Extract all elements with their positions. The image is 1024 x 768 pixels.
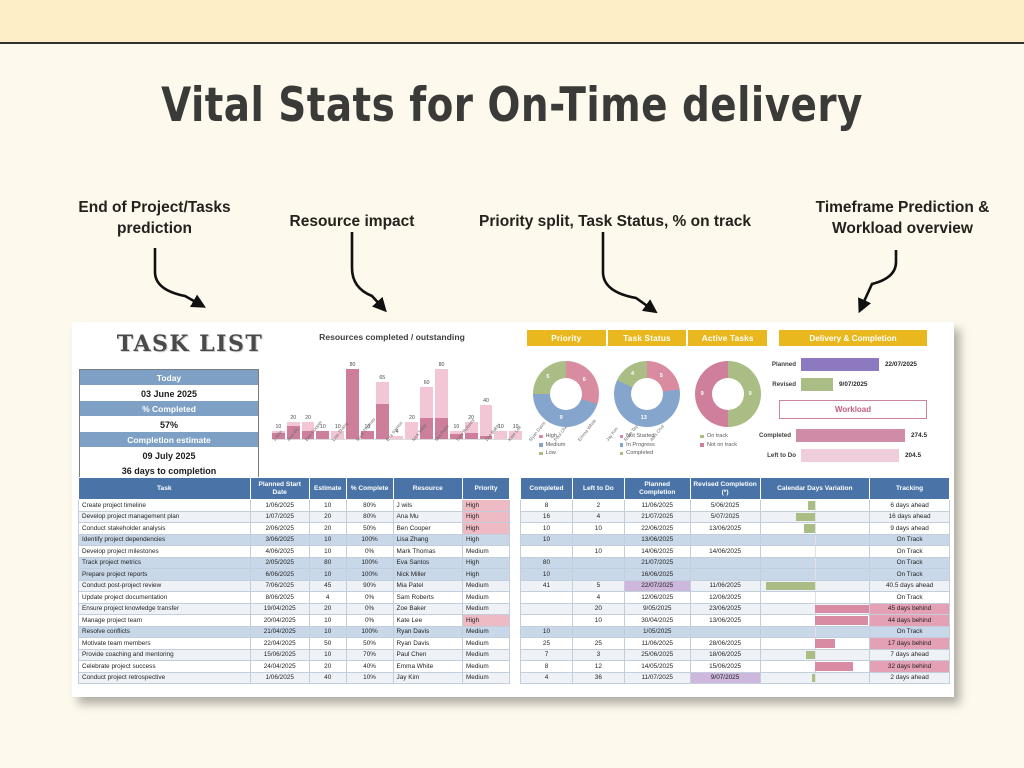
table-row[interactable]: Ensure project knowledge transfer19/04/2… <box>79 603 510 615</box>
tracking-table-header-row: CompletedLeft to DoPlanned CompletionRev… <box>521 478 950 500</box>
table-cell[interactable]: 13/06/2025 <box>690 523 760 535</box>
calendar-days-variation-cell[interactable] <box>760 649 870 661</box>
table-cell[interactable]: Medium <box>462 672 509 684</box>
table-cell[interactable]: 2/05/2025 <box>250 557 309 569</box>
delivery-bar-revised <box>801 378 833 391</box>
tracking-status-cell[interactable]: 6 days ahead <box>870 500 950 512</box>
table-cell[interactable]: Celebrate project success <box>79 661 251 673</box>
table-cell[interactable]: 7 <box>521 649 573 661</box>
table-cell[interactable]: 21/04/2025 <box>250 626 309 638</box>
resources-chart-title: Resources completed / outstanding <box>277 332 507 342</box>
tracking-status-cell[interactable]: 40.5 days ahead <box>870 580 950 592</box>
table-row[interactable]: 209/05/202523/06/202545 days behind <box>521 603 950 615</box>
table-row[interactable]: Celebrate project success24/04/20252040%… <box>79 661 510 673</box>
summary-header-completion-estimate: Completion estimate <box>80 432 258 448</box>
table-cell[interactable]: 11/06/2025 <box>690 580 760 592</box>
table-cell[interactable]: Mark Thomas <box>393 546 462 558</box>
calendar-days-variation-cell[interactable] <box>760 603 870 615</box>
donut-slice-value: 9 <box>701 391 704 397</box>
table-cell[interactable]: 10 <box>521 534 573 546</box>
column-header[interactable]: Planned Completion <box>624 478 690 500</box>
delivery-label-planned: Planned <box>759 361 801 368</box>
table-row[interactable]: 412/06/202512/06/2025On Track <box>521 592 950 604</box>
table-cell[interactable]: 12/06/2025 <box>690 592 760 604</box>
tracking-status-cell[interactable]: On Track <box>870 557 950 569</box>
table-cell[interactable] <box>690 557 760 569</box>
table-row[interactable]: 16421/07/20255/07/202516 days ahead <box>521 511 950 523</box>
table-cell[interactable]: Lisa Zhang <box>393 534 462 546</box>
table-cell[interactable]: 16/06/2025 <box>624 569 690 581</box>
table-cell[interactable]: High <box>462 511 509 523</box>
table-cell[interactable]: 19/04/2025 <box>250 603 309 615</box>
table-cell[interactable]: Medium <box>462 626 509 638</box>
table-cell[interactable]: High <box>462 523 509 535</box>
table-cell[interactable]: Ben Cooper <box>393 523 462 535</box>
table-cell[interactable]: 50% <box>346 523 393 535</box>
table-cell[interactable]: 10 <box>309 649 346 661</box>
table-cell[interactable]: 10 <box>309 534 346 546</box>
table-cell[interactable]: 1/05/2025 <box>624 626 690 638</box>
legend-item: Completed <box>620 449 687 458</box>
donut-ring: 5134 <box>614 361 680 427</box>
table-cell[interactable]: 13/06/2025 <box>690 615 760 627</box>
table-cell[interactable]: 7/06/2025 <box>250 580 309 592</box>
legend-label: Not on track <box>707 441 737 450</box>
workload-row-completed: Completed 274.5 <box>759 429 927 442</box>
table-cell[interactable]: 11/06/2025 <box>624 638 690 650</box>
variation-midline <box>815 650 816 661</box>
table-cell[interactable]: 10 <box>309 569 346 581</box>
top-banner <box>0 0 1024 44</box>
delivery-bar-planned <box>801 358 879 371</box>
table-cell[interactable]: 3 <box>572 649 624 661</box>
donut-header-priority: Priority <box>527 330 606 346</box>
dashboard-card: TASK LIST Today 03 June 2025 % Completed… <box>72 322 954 697</box>
variation-midline <box>815 535 816 546</box>
table-row[interactable]: Create project timeline1/06/20251080%J w… <box>79 500 510 512</box>
table-cell[interactable] <box>521 592 573 604</box>
legend-item: High <box>539 432 606 441</box>
tracking-status-cell[interactable]: 16 days ahead <box>870 511 950 523</box>
column-header[interactable]: Revised Completion (*) <box>690 478 760 500</box>
column-header[interactable]: Priority <box>462 478 509 500</box>
legend-item: Medium <box>539 441 606 450</box>
table-cell[interactable]: 20/04/2025 <box>250 615 309 627</box>
calendar-days-variation-cell[interactable] <box>760 534 870 546</box>
table-cell[interactable]: 15/06/2025 <box>250 649 309 661</box>
table-cell[interactable]: 11/06/2025 <box>624 500 690 512</box>
table-row[interactable]: Provide coaching and mentoring15/06/2025… <box>79 649 510 661</box>
calendar-days-variation-cell[interactable] <box>760 626 870 638</box>
table-cell[interactable]: Ana Mu <box>393 511 462 523</box>
table-cell[interactable]: 12 <box>572 661 624 673</box>
column-header[interactable]: Estimate <box>309 478 346 500</box>
donut-header-task-status: Task Status <box>608 330 687 346</box>
tracking-status-cell[interactable]: On Track <box>870 592 950 604</box>
table-cell[interactable]: 5/07/2025 <box>690 511 760 523</box>
table-cell[interactable]: 80% <box>346 511 393 523</box>
annotation-line-2: prediction <box>52 219 257 240</box>
table-cell[interactable]: 22/07/2025 <box>624 580 690 592</box>
table-cell[interactable]: 100% <box>346 557 393 569</box>
legend-swatch <box>539 452 543 456</box>
table-cell[interactable]: 10 <box>309 500 346 512</box>
table-cell[interactable]: 15/06/2025 <box>690 661 760 673</box>
table-cell[interactable]: Medium <box>462 592 509 604</box>
tracking-status-cell[interactable]: On Track <box>870 569 950 581</box>
tracking-status-cell[interactable]: 44 days behind <box>870 615 950 627</box>
tracking-table[interactable]: CompletedLeft to DoPlanned CompletionRev… <box>520 477 950 684</box>
table-row[interactable]: 1030/04/202513/06/202544 days behind <box>521 615 950 627</box>
table-cell[interactable]: Ensure project knowledge transfer <box>79 603 251 615</box>
table-cell[interactable] <box>572 534 624 546</box>
table-cell[interactable]: Identify project dependencies <box>79 534 251 546</box>
table-cell[interactable]: 9/07/2025 <box>690 672 760 684</box>
column-header[interactable]: Resource <box>393 478 462 500</box>
variation-bar <box>804 524 815 533</box>
variation-midline <box>815 546 816 557</box>
table-cell[interactable]: 80 <box>309 557 346 569</box>
table-cell[interactable]: Medium <box>462 649 509 661</box>
table-cell[interactable]: Eva Santos <box>393 557 462 569</box>
tracking-status-cell[interactable]: 9 days ahead <box>870 523 950 535</box>
table-row[interactable]: Update project documentation8/06/202540%… <box>79 592 510 604</box>
calendar-days-variation-cell[interactable] <box>760 523 870 535</box>
table-cell[interactable]: 80% <box>346 500 393 512</box>
table-row[interactable]: Track project metrics2/05/202580100%Eva … <box>79 557 510 569</box>
table-cell[interactable]: 30/04/2025 <box>624 615 690 627</box>
table-cell[interactable]: Nick Miller <box>393 569 462 581</box>
table-cell[interactable]: 18/06/2025 <box>690 649 760 661</box>
table-cell[interactable]: Manage project team <box>79 615 251 627</box>
calendar-days-variation-cell[interactable] <box>760 546 870 558</box>
table-cell[interactable]: 10 <box>572 615 624 627</box>
bar-value-label: 60 <box>424 380 430 386</box>
table-cell[interactable]: Zoe Baker <box>393 603 462 615</box>
table-cell[interactable]: 100% <box>346 569 393 581</box>
table-cell[interactable]: Medium <box>462 580 509 592</box>
table-cell[interactable] <box>521 615 573 627</box>
table-cell[interactable]: 0% <box>346 592 393 604</box>
calendar-days-variation-cell[interactable] <box>760 592 870 604</box>
table-cell[interactable] <box>572 569 624 581</box>
resources-axis-labels: J WilsAna MuBen CooperLisa ZhangMark Tho… <box>272 438 522 462</box>
bar-value-label: 10 <box>453 424 459 430</box>
table-cell[interactable]: 41 <box>521 580 573 592</box>
table-row[interactable]: 101/05/2025On Track <box>521 626 950 638</box>
table-cell[interactable]: 11/07/2025 <box>624 672 690 684</box>
delivery-row-revised: Revised 9/07/2025 <box>759 378 927 391</box>
variation-midline <box>815 512 816 523</box>
table-row[interactable]: Motivate team members22/04/20255050%Ryan… <box>79 638 510 650</box>
donut-legend: On trackNot on track <box>688 432 767 449</box>
tracking-status-cell[interactable]: 32 days behind <box>870 661 950 673</box>
table-cell[interactable]: 4 <box>572 511 624 523</box>
column-header[interactable]: Tracking <box>870 478 950 500</box>
table-cell[interactable]: 8 <box>521 500 573 512</box>
table-cell[interactable]: 4 <box>309 592 346 604</box>
table-cell[interactable]: 21/07/2025 <box>624 557 690 569</box>
table-cell[interactable] <box>572 557 624 569</box>
table-cell[interactable]: 2/06/2025 <box>250 523 309 535</box>
table-cell[interactable]: 10 <box>521 523 573 535</box>
table-cell[interactable]: Develop project milestones <box>79 546 251 558</box>
bar-value-label: 65 <box>379 375 385 381</box>
table-row[interactable]: 8021/07/2025On Track <box>521 557 950 569</box>
table-cell[interactable]: 24/04/2025 <box>250 661 309 673</box>
table-cell[interactable]: 10 <box>521 569 573 581</box>
table-cell[interactable]: 12/06/2025 <box>624 592 690 604</box>
table-cell[interactable]: 5/06/2025 <box>690 500 760 512</box>
legend-swatch <box>539 435 543 439</box>
table-row[interactable]: 101022/06/202513/06/20259 days ahead <box>521 523 950 535</box>
table-cell[interactable] <box>521 603 573 615</box>
table-cell[interactable]: 10 <box>572 546 624 558</box>
variation-bar <box>815 662 854 671</box>
legend-label: High <box>546 432 558 441</box>
calendar-days-variation-cell[interactable] <box>760 672 870 684</box>
table-cell[interactable]: 4 <box>572 592 624 604</box>
table-cell[interactable]: Create project timeline <box>79 500 251 512</box>
table-cell[interactable]: 2 <box>572 500 624 512</box>
calendar-days-variation-cell[interactable] <box>760 638 870 650</box>
table-cell[interactable] <box>521 546 573 558</box>
column-header[interactable]: Left to Do <box>572 478 624 500</box>
tracking-table-body[interactable]: 8211/06/20255/06/20256 days ahead16421/0… <box>521 500 950 684</box>
resources-bar-chart: 102020101080106542060801020401010 J Wils… <box>272 352 522 462</box>
tasks-table-body[interactable]: Create project timeline1/06/20251080%J w… <box>79 500 510 684</box>
table-cell[interactable]: Develop project management plan <box>79 511 251 523</box>
table-cell[interactable]: 10 <box>521 626 573 638</box>
table-cell[interactable]: 4/06/2025 <box>250 546 309 558</box>
table-row[interactable]: 8211/06/20255/06/20256 days ahead <box>521 500 950 512</box>
table-cell[interactable]: 36 <box>572 672 624 684</box>
table-cell[interactable]: High <box>462 569 509 581</box>
legend-item: Not on track <box>700 441 767 450</box>
tracking-status-cell[interactable]: 2 days ahead <box>870 672 950 684</box>
legend-item: Not Started <box>620 432 687 441</box>
tracking-status-cell[interactable]: 45 days behind <box>870 603 950 615</box>
table-cell[interactable]: Medium <box>462 546 509 558</box>
table-cell[interactable]: 3/06/2025 <box>250 534 309 546</box>
bar-column: 10 <box>272 362 285 440</box>
table-cell[interactable]: Motivate team members <box>79 638 251 650</box>
table-cell[interactable]: 8/06/2025 <box>250 592 309 604</box>
table-cell[interactable]: Conduct stakeholder analysis <box>79 523 251 535</box>
variation-midline <box>815 592 816 603</box>
table-cell[interactable]: Medium <box>462 661 509 673</box>
table-cell[interactable]: 45 <box>309 580 346 592</box>
table-cell[interactable]: 1/07/2025 <box>250 511 309 523</box>
task-status-donut: 5134Not StartedIn ProgressCompleted <box>608 357 687 462</box>
table-row[interactable]: 1016/06/2025On Track <box>521 569 950 581</box>
table-cell[interactable]: Conduct post-project review <box>79 580 251 592</box>
calendar-days-variation-cell[interactable] <box>760 557 870 569</box>
table-row[interactable]: Develop project management plan1/07/2025… <box>79 511 510 523</box>
table-cell[interactable]: 25 <box>521 638 573 650</box>
table-cell[interactable]: 50 <box>309 638 346 650</box>
table-cell[interactable]: 13/06/2025 <box>624 534 690 546</box>
column-header[interactable]: % Complete <box>346 478 393 500</box>
table-row[interactable]: Conduct stakeholder analysis2/06/2025205… <box>79 523 510 535</box>
calendar-days-variation-cell[interactable] <box>760 511 870 523</box>
table-cell[interactable]: 25 <box>572 638 624 650</box>
delivery-value-revised: 9/07/2025 <box>833 381 867 388</box>
table-row[interactable]: Manage project team20/04/2025100%Kate Le… <box>79 615 510 627</box>
annotation-end-of-project: End of Project/Tasks prediction <box>52 198 257 240</box>
column-header[interactable]: Calendar Days Variation <box>760 478 870 500</box>
table-row[interactable]: Prepare project reports6/06/202510100%Ni… <box>79 569 510 581</box>
table-cell[interactable]: 10 <box>572 523 624 535</box>
table-cell[interactable]: 22/04/2025 <box>250 638 309 650</box>
table-cell[interactable]: High <box>462 615 509 627</box>
table-row[interactable]: 1013/06/2025On Track <box>521 534 950 546</box>
table-row[interactable]: Develop project milestones4/06/2025100%M… <box>79 546 510 558</box>
table-cell[interactable]: 23/06/2025 <box>690 603 760 615</box>
calendar-days-variation-cell[interactable] <box>760 569 870 581</box>
tasks-table[interactable]: TaskPlanned Start DateEstimate% Complete… <box>78 477 510 684</box>
table-cell[interactable]: 0% <box>346 546 393 558</box>
table-cell[interactable]: 5 <box>572 580 624 592</box>
table-cell[interactable]: Ryan Davis <box>393 638 462 650</box>
column-header[interactable]: Task <box>79 478 251 500</box>
table-cell[interactable]: 10 <box>309 626 346 638</box>
table-cell[interactable]: Jay Kim <box>393 672 462 684</box>
calendar-days-variation-cell[interactable] <box>760 500 870 512</box>
table-cell[interactable]: 10 <box>309 546 346 558</box>
table-cell[interactable]: 100% <box>346 626 393 638</box>
table-row[interactable]: Conduct project retrospective1/06/202540… <box>79 672 510 684</box>
table-row[interactable]: 7325/06/202518/06/20257 days ahead <box>521 649 950 661</box>
table-cell[interactable] <box>690 569 760 581</box>
legend-swatch <box>539 443 543 447</box>
table-row[interactable]: Resolve conflicts21/04/202510100%Ryan Da… <box>79 626 510 638</box>
table-cell[interactable]: 22/06/2025 <box>624 523 690 535</box>
table-cell[interactable]: Provide coaching and mentoring <box>79 649 251 661</box>
table-cell[interactable]: 20 <box>309 661 346 673</box>
bar-segment-outstanding <box>376 382 389 403</box>
table-cell[interactable]: 0% <box>346 603 393 615</box>
calendar-days-variation-cell[interactable] <box>760 615 870 627</box>
tracking-status-cell[interactable]: On Track <box>870 626 950 638</box>
legend-item: In Progress <box>620 441 687 450</box>
table-cell[interactable]: 40% <box>346 661 393 673</box>
table-cell[interactable]: Mia Patel <box>393 580 462 592</box>
column-header[interactable]: Completed <box>521 478 573 500</box>
table-cell[interactable]: 14/05/2025 <box>624 661 690 673</box>
table-cell[interactable]: 70% <box>346 649 393 661</box>
tracking-status-cell[interactable]: 17 days behind <box>870 638 950 650</box>
table-cell[interactable]: Track project metrics <box>79 557 251 569</box>
table-cell[interactable]: 6/06/2025 <box>250 569 309 581</box>
table-cell[interactable]: Update project documentation <box>79 592 251 604</box>
variation-midline <box>815 627 816 638</box>
table-cell[interactable]: High <box>462 557 509 569</box>
table-cell[interactable]: High <box>462 534 509 546</box>
table-cell[interactable]: 8 <box>521 661 573 673</box>
table-cell[interactable]: Ryan Davis <box>393 626 462 638</box>
donut-legend: Not StartedIn ProgressCompleted <box>608 432 687 458</box>
table-cell[interactable]: 10 <box>309 615 346 627</box>
table-cell[interactable]: 0% <box>346 615 393 627</box>
table-cell[interactable]: J wils <box>393 500 462 512</box>
calendar-days-variation-cell[interactable] <box>760 580 870 592</box>
table-cell[interactable]: Sam Roberts <box>393 592 462 604</box>
table-cell[interactable]: 4 <box>521 672 573 684</box>
table-row[interactable]: 252511/06/202528/06/202517 days behind <box>521 638 950 650</box>
table-cell[interactable]: 16 <box>521 511 573 523</box>
table-cell[interactable]: 1/06/2025 <box>250 500 309 512</box>
table-cell[interactable]: 20 <box>309 523 346 535</box>
table-cell[interactable]: Kate Lee <box>393 615 462 627</box>
table-cell[interactable]: 40 <box>309 672 346 684</box>
table-cell[interactable] <box>690 626 760 638</box>
bar-value-label: 20 <box>409 415 415 421</box>
summary-value-today: 03 June 2025 <box>80 386 258 401</box>
table-cell[interactable]: 90% <box>346 580 393 592</box>
calendar-days-variation-cell[interactable] <box>760 661 870 673</box>
variation-bar <box>815 639 836 648</box>
table-row[interactable]: 81214/05/202515/06/202532 days behind <box>521 661 950 673</box>
task-list-heading: TASK LIST <box>90 331 290 357</box>
legend-swatch <box>700 435 704 439</box>
table-cell[interactable]: High <box>462 500 509 512</box>
table-cell[interactable]: 14/06/2025 <box>690 546 760 558</box>
table-cell[interactable]: 20 <box>572 603 624 615</box>
table-row[interactable]: Identify project dependencies3/06/202510… <box>79 534 510 546</box>
table-cell[interactable]: Medium <box>462 603 509 615</box>
table-cell[interactable] <box>690 534 760 546</box>
legend-label: Medium <box>546 441 566 450</box>
table-cell[interactable]: Paul Chen <box>393 649 462 661</box>
table-cell[interactable]: Emma White <box>393 661 462 673</box>
workload-label-left-to-do: Left to Do <box>759 452 801 459</box>
table-cell[interactable]: 20 <box>309 511 346 523</box>
table-cell[interactable]: 10% <box>346 672 393 684</box>
table-row[interactable]: 43611/07/20259/07/20252 days ahead <box>521 672 950 684</box>
column-header[interactable]: Planned Start Date <box>250 478 309 500</box>
table-cell[interactable]: 28/06/2025 <box>690 638 760 650</box>
tracking-status-cell[interactable]: On Track <box>870 534 950 546</box>
table-row[interactable]: Conduct post-project review7/06/20254590… <box>79 580 510 592</box>
table-cell[interactable]: Conduct project retrospective <box>79 672 251 684</box>
variation-midline <box>815 558 816 569</box>
table-cell[interactable]: Resolve conflicts <box>79 626 251 638</box>
variation-bar <box>766 582 815 591</box>
table-row[interactable]: 41522/07/202511/06/202540.5 days ahead <box>521 580 950 592</box>
table-cell[interactable]: 21/07/2025 <box>624 511 690 523</box>
annotation-resource-impact: Resource impact <box>262 212 442 233</box>
legend-swatch <box>700 443 704 447</box>
table-cell[interactable]: 80 <box>521 557 573 569</box>
table-cell[interactable]: 9/05/2025 <box>624 603 690 615</box>
table-cell[interactable]: 25/06/2025 <box>624 649 690 661</box>
summary-header-today: Today <box>80 370 258 386</box>
table-cell[interactable]: 14/06/2025 <box>624 546 690 558</box>
table-row[interactable]: 1014/06/202514/06/2025On Track <box>521 546 950 558</box>
tracking-status-cell[interactable]: 7 days ahead <box>870 649 950 661</box>
table-cell[interactable]: Medium <box>462 638 509 650</box>
table-cell[interactable]: 100% <box>346 534 393 546</box>
table-cell[interactable]: 20 <box>309 603 346 615</box>
annotation-line-1: End of Project/Tasks <box>52 198 257 219</box>
table-cell[interactable]: 1/06/2025 <box>250 672 309 684</box>
page-title: Vital Stats for On-Time delivery <box>41 78 983 133</box>
table-cell[interactable]: Prepare project reports <box>79 569 251 581</box>
table-cell[interactable]: 50% <box>346 638 393 650</box>
tracking-status-cell[interactable]: On Track <box>870 546 950 558</box>
table-cell[interactable] <box>572 626 624 638</box>
